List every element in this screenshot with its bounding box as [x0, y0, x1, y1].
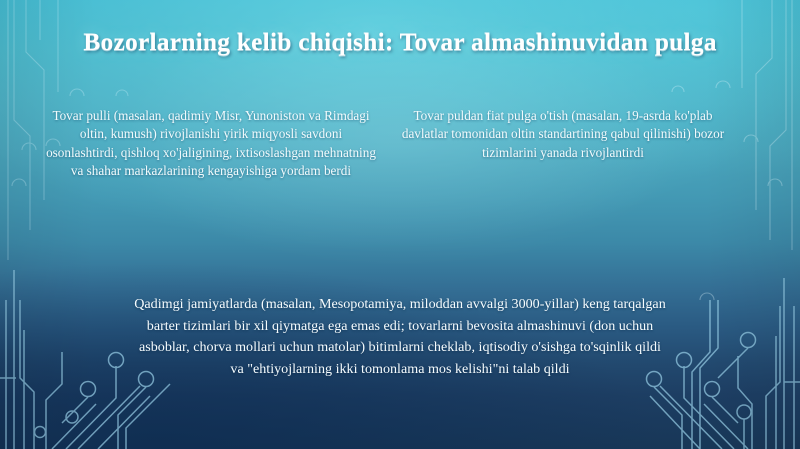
page-title: Bozorlarning kelib chiqishi: Tovar almas… — [0, 27, 800, 57]
text-block-commodity-money: Tovar pulli (masalan, qadimiy Misr, Yuno… — [46, 107, 376, 181]
slide-content: Bozorlarning kelib chiqishi: Tovar almas… — [0, 0, 800, 449]
text-block-barter-systems: Qadimgi jamiyatlarda (masalan, Mesopotam… — [133, 294, 667, 380]
text-block-fiat-money: Tovar puldan fiat pulga o'tish (masalan,… — [396, 107, 730, 162]
slide-canvas: Bozorlarning kelib chiqishi: Tovar almas… — [0, 0, 800, 449]
